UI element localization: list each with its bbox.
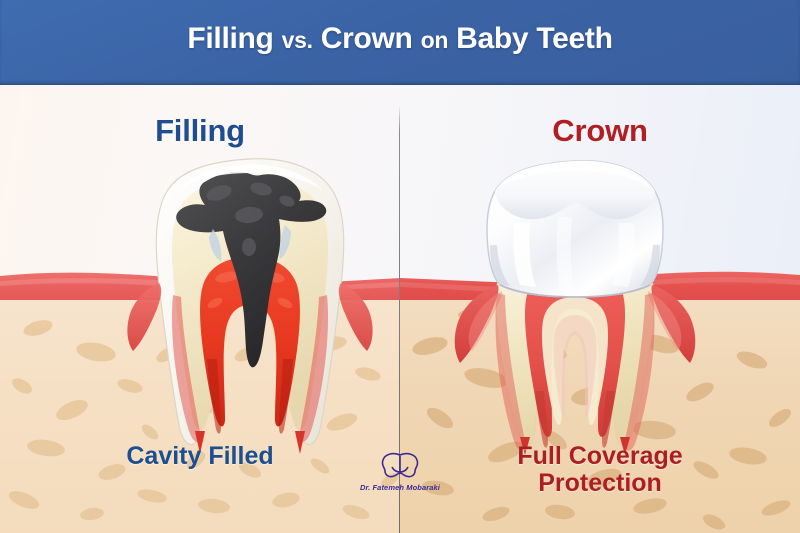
title-word-on: on xyxy=(421,27,449,53)
left-panel-label: Filling xyxy=(0,113,400,149)
right-panel-label: Crown xyxy=(400,113,800,149)
watermark-logo: Dr. Fatemeh Mobaraki xyxy=(355,450,445,492)
left-caption: Cavity Filled xyxy=(0,443,400,470)
gum-wedge-right xyxy=(339,283,373,351)
right-caption-line1: Full Coverage xyxy=(517,442,682,470)
right-caption-line2: Protection xyxy=(538,469,662,497)
title-word-filling: Filling xyxy=(187,22,273,55)
right-caption: Full Coverage Protection xyxy=(400,443,800,497)
watermark-text: Dr. Fatemeh Mobaraki xyxy=(355,483,445,492)
gum-wedge-left xyxy=(127,283,161,351)
infographic-canvas: Filling vs. Crown on Baby Teeth xyxy=(0,0,800,533)
right-tooth-illustration xyxy=(440,145,710,455)
page-title: Filling vs. Crown on Baby Teeth xyxy=(0,22,800,56)
illustration-stage: Filling Crown Cavity Filled Full Coverag… xyxy=(0,85,800,533)
left-caption-text: Cavity Filled xyxy=(126,442,273,470)
tooth-logo-icon xyxy=(355,450,445,482)
left-tooth-illustration xyxy=(115,145,385,455)
title-word-crown: Crown xyxy=(321,22,413,55)
header-bar: Filling vs. Crown on Baby Teeth xyxy=(0,0,800,85)
pulp-inner-shade xyxy=(553,315,596,417)
title-word-baby-teeth: Baby Teeth xyxy=(456,22,612,55)
title-word-vs: vs. xyxy=(282,27,313,53)
